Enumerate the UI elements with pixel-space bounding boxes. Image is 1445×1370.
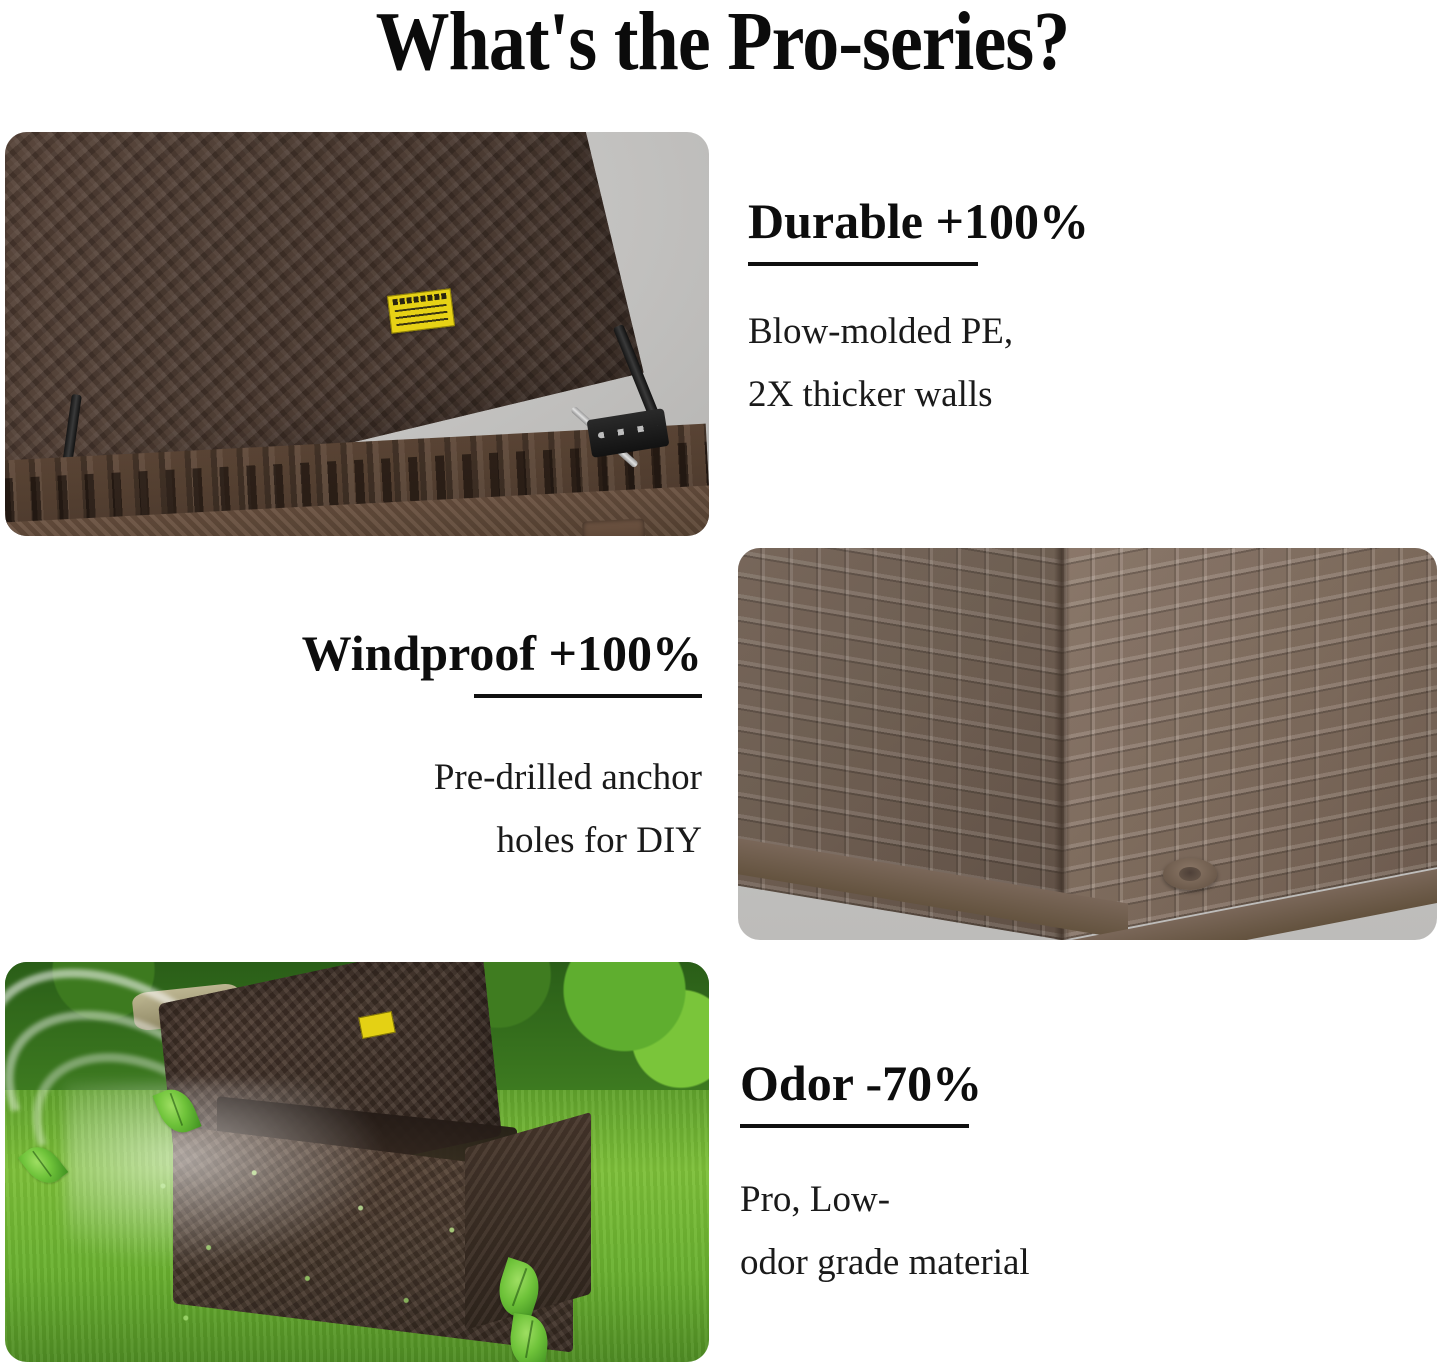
feature-body-durable-line1: Blow-molded PE,	[748, 300, 1089, 363]
feature-underline-odor	[740, 1124, 969, 1128]
feature-underline-windproof	[474, 694, 702, 698]
page-title: What's the Pro-series?	[87, 0, 1359, 90]
feature-block-odor: Odor -70% Pro, Low- odor grade material	[740, 1054, 1030, 1294]
feature-body-durable-line2: 2X thicker walls	[748, 363, 1089, 426]
feature-heading-windproof: Windproof +100%	[262, 624, 702, 682]
feature-body-windproof-line1: Pre-drilled anchor	[262, 746, 702, 809]
anchor-foot-tab-shape	[1163, 858, 1217, 890]
feature-heading-durable: Durable +100%	[748, 192, 1089, 250]
feature-body-windproof-line2: holes for DIY	[262, 809, 702, 872]
corner-seam-shape	[1054, 548, 1070, 940]
photo-panel-open-box	[5, 132, 709, 536]
feature-block-windproof: Windproof +100% Pre-drilled anchor holes…	[262, 624, 702, 872]
photo-panel-lawn-lifestyle	[5, 962, 709, 1362]
feature-body-odor-line1: Pro, Low-	[740, 1168, 1030, 1231]
airflow-mist-shape	[65, 1082, 395, 1272]
feature-body-odor-line2: odor grade material	[740, 1231, 1030, 1294]
feature-underline-durable	[748, 262, 978, 266]
feature-heading-odor: Odor -70%	[740, 1054, 1030, 1112]
latch-shape	[582, 518, 646, 536]
feature-block-durable: Durable +100% Blow-molded PE, 2X thicker…	[748, 192, 1089, 426]
photo-panel-corner-texture	[738, 548, 1437, 940]
warning-label-icon	[387, 288, 455, 334]
